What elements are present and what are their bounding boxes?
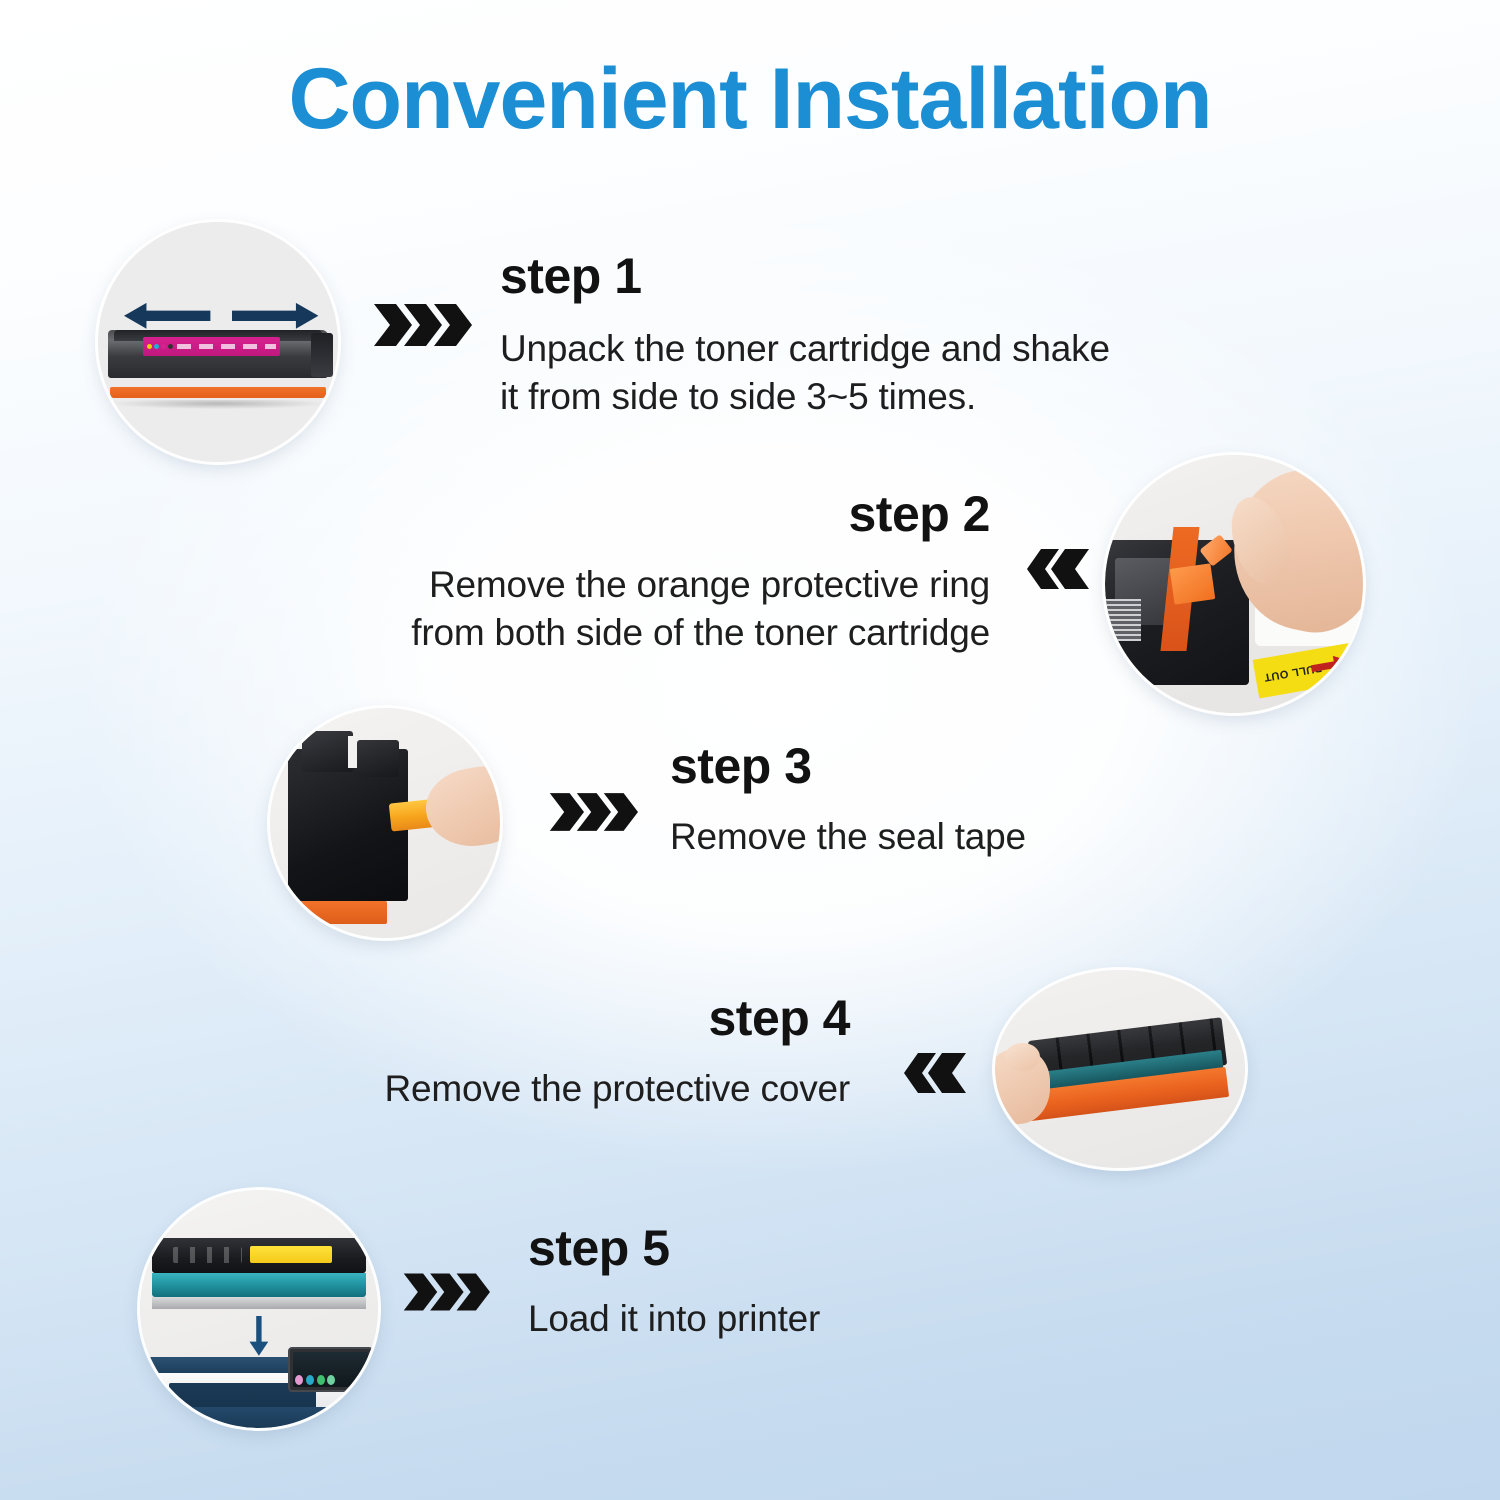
shake-arrow-right-icon: [232, 299, 318, 333]
infographic-page: Convenient Installation: [0, 0, 1500, 1500]
triple-chevron-right-icon: [402, 1270, 490, 1314]
printer-control-panel: [288, 1347, 373, 1391]
triple-chevron-right-icon: [372, 302, 472, 348]
step-1-description-line-1: Unpack the toner cartridge and shake: [500, 325, 1180, 373]
triple-chevron-right-icon: [548, 790, 638, 834]
step-2-photo: PULL OUT: [1105, 455, 1363, 713]
step-2-text-block: step 2 Remove the orange protective ring…: [300, 488, 990, 657]
step-1-text-block: step 1 Unpack the toner cartridge and sh…: [500, 250, 1180, 421]
step-4-label: step 4: [250, 992, 850, 1045]
orange-protective-ring: [1170, 563, 1216, 605]
step-1-arrow: [372, 302, 472, 348]
step-5-photo: [140, 1190, 378, 1428]
step-3-arrow: [548, 790, 638, 834]
step-5-description-line-1: Load it into printer: [528, 1295, 1168, 1343]
step-5-text-block: step 5 Load it into printer: [528, 1222, 1168, 1343]
step-2-description-line-2: from both side of the toner cartridge: [300, 609, 990, 657]
step-2-description-line-1: Remove the orange protective ring: [300, 561, 990, 609]
cartridge-label: [250, 1246, 331, 1263]
shake-arrow-left-icon: [124, 299, 210, 333]
step-2-label: step 2: [300, 488, 990, 541]
toner-cartridge-illustration: [108, 330, 329, 397]
triple-chevron-left-icon: [892, 1052, 972, 1094]
step-4-arrow: [892, 1052, 972, 1094]
step-3-description-line-1: Remove the seal tape: [670, 813, 1310, 861]
step-1-photo: [98, 222, 338, 462]
step-1-label: step 1: [500, 250, 1180, 303]
step-3-text-block: step 3 Remove the seal tape: [670, 740, 1310, 861]
insert-arrow-down-icon: [247, 1316, 271, 1356]
triple-chevron-left-icon: [1015, 548, 1095, 590]
step-4-photo: [995, 970, 1245, 1168]
page-title: Convenient Installation: [0, 52, 1500, 147]
step-5-label: step 5: [528, 1222, 1168, 1275]
step-4-description-line-1: Remove the protective cover: [250, 1065, 850, 1113]
toner-cartridge-illustration: [152, 1238, 366, 1274]
step-5-arrow: [402, 1270, 490, 1314]
step-3-label: step 3: [670, 740, 1310, 793]
step-3-photo: [270, 708, 500, 938]
step-4-text-block: step 4 Remove the protective cover: [250, 992, 850, 1113]
step-2-arrow: [1015, 548, 1095, 590]
cartridge-label: [143, 337, 280, 356]
step-1-description-line-2: it from side to side 3~5 times.: [500, 373, 1180, 421]
